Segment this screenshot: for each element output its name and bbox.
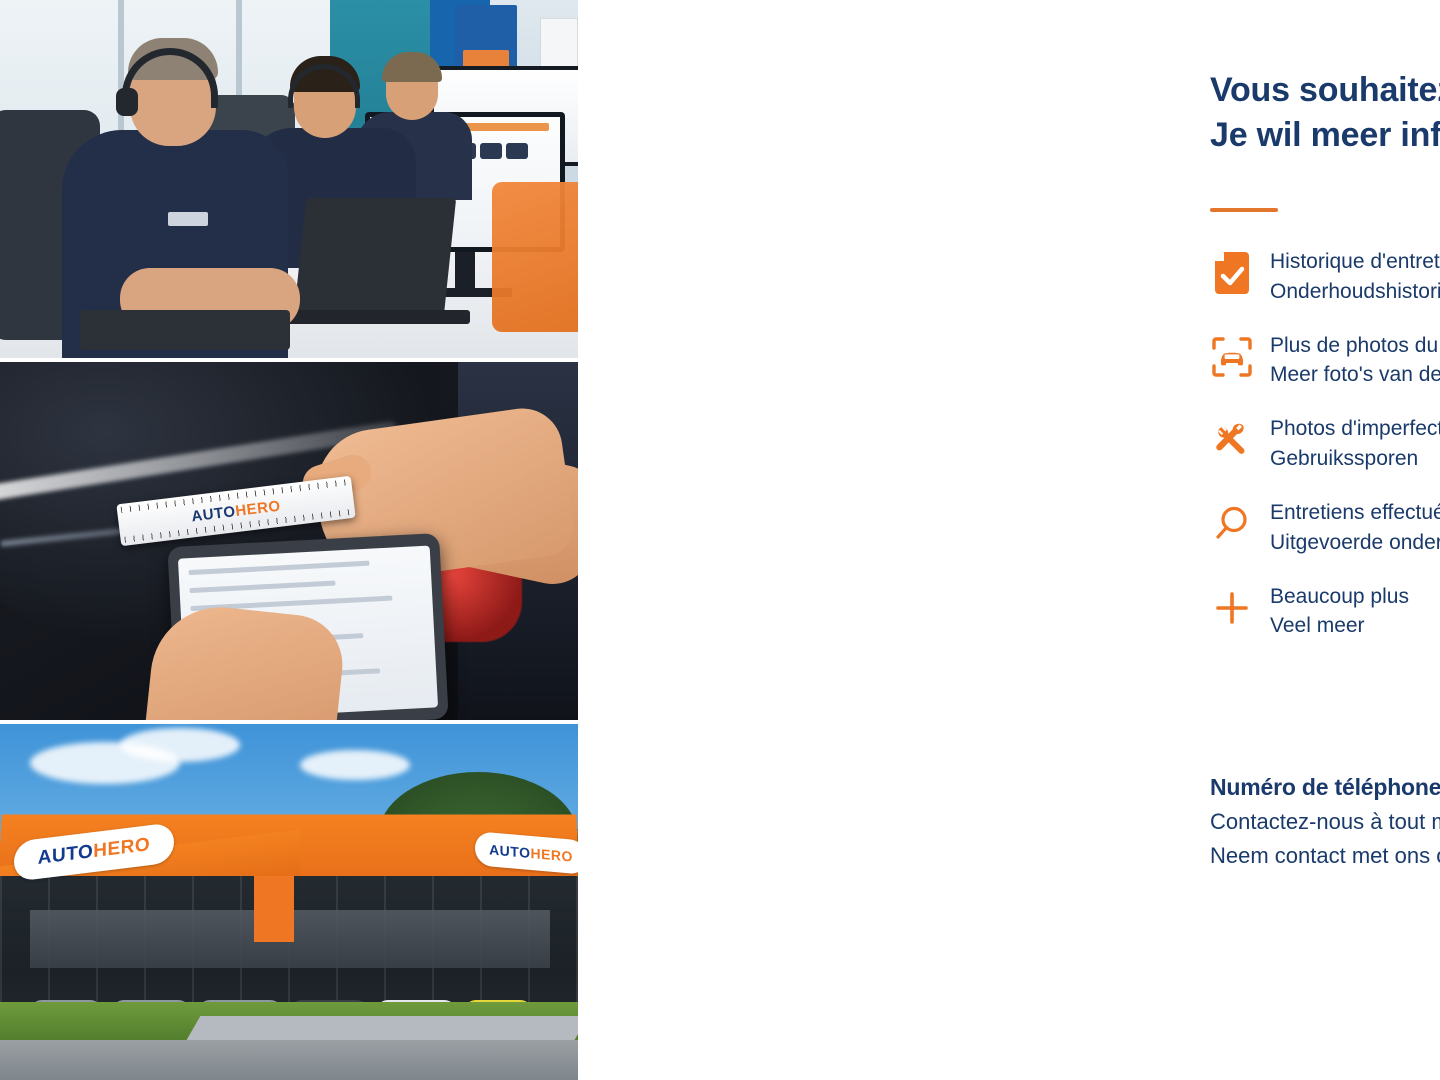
- brand-auto: AUTO: [191, 503, 237, 525]
- tools-icon: [1206, 414, 1258, 466]
- magnifier-icon: [1206, 498, 1258, 550]
- content-panel: Vous souhaitez plus d'informations sur /…: [578, 0, 1440, 1080]
- feature-label-nl: Onderhoudshistorie: [1270, 277, 1440, 307]
- call-center-photo: [0, 0, 578, 358]
- contact-block: Numéro de téléphone / Telefoonnummer: +3…: [1210, 770, 1440, 873]
- title-line-nl: Je wil meer informatie over:: [1210, 113, 1440, 158]
- feature-list: Historique d'entretien Onderhoudshistori…: [1206, 245, 1440, 663]
- plus-icon: [1206, 582, 1258, 634]
- brand-hero: HERO: [234, 497, 281, 519]
- marketing-slide: AUTOHERO: [0, 0, 1440, 1080]
- list-item: Photos d'imperfections Gebruikssporen: [1206, 412, 1440, 474]
- title-line-fr: Vous souhaitez plus d'informations sur /: [1210, 68, 1440, 113]
- feature-label-fr: Entretiens effectués: [1270, 498, 1440, 528]
- feature-label-nl: Veel meer: [1270, 611, 1409, 641]
- list-item: Plus de photos du véhicule Meer foto's v…: [1206, 329, 1440, 391]
- brand-auto: AUTO: [489, 841, 530, 861]
- feature-label-nl: Uitgevoerde onderhoudswerkzaamheden: [1270, 528, 1440, 558]
- list-item: Beaucoup plus Veel meer: [1206, 580, 1440, 642]
- brand-hero: HERO: [530, 845, 572, 865]
- title-divider: [1210, 208, 1278, 212]
- phone-number: Numéro de téléphone / Telefoonnummer: +3…: [1210, 770, 1440, 805]
- list-item: Historique d'entretien Onderhoudshistori…: [1206, 245, 1440, 307]
- feature-label-fr: Photos d'imperfections: [1270, 414, 1440, 444]
- dealership-photo: AUTOHERO AUTOHERO: [0, 724, 578, 1080]
- car-scan-icon: [1206, 331, 1258, 383]
- feature-label-fr: Historique d'entretien: [1270, 247, 1440, 277]
- vehicle-inspection-photo: AUTOHERO: [0, 362, 578, 720]
- feature-label-nl: Gebruikssporen: [1270, 444, 1440, 474]
- feature-label-fr: Beaucoup plus: [1270, 582, 1409, 612]
- feature-label-fr: Plus de photos du véhicule: [1270, 331, 1440, 361]
- feature-label-nl: Meer foto's van de auto: [1270, 360, 1440, 390]
- contact-line-nl: Neem contact met ons op voor meer inform…: [1210, 839, 1440, 873]
- document-check-icon: [1206, 247, 1258, 299]
- photo-column: AUTOHERO: [0, 0, 578, 1080]
- page-title: Vous souhaitez plus d'informations sur /…: [1210, 68, 1440, 158]
- brand-auto: AUTO: [38, 841, 93, 869]
- contact-line-fr: Contactez-nous à tout moment pour plus d…: [1210, 805, 1440, 839]
- list-item: Entretiens effectués Uitgevoerde onderho…: [1206, 496, 1440, 558]
- brand-hero: HERO: [93, 834, 150, 862]
